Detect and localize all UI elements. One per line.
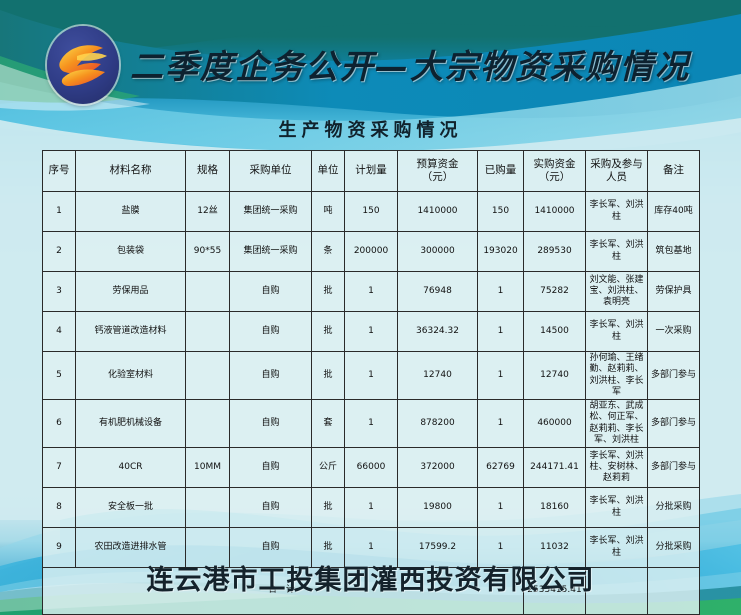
cell-remark: 劳保护具 xyxy=(648,272,700,312)
cell-no: 6 xyxy=(43,400,76,448)
cell-people: 李长军、刘洪柱 xyxy=(586,488,648,528)
cell-spec: 12丝 xyxy=(186,192,230,232)
cell-purchased: 1 xyxy=(478,400,524,448)
cell-remark: 筑包基地 xyxy=(648,232,700,272)
cell-no: 8 xyxy=(43,488,76,528)
cell-material: 40CR xyxy=(76,448,186,488)
cell-no: 3 xyxy=(43,272,76,312)
cell-planned: 1 xyxy=(345,312,398,352)
col-header-planned: 计划量 xyxy=(345,151,398,192)
cell-planned: 1 xyxy=(345,488,398,528)
cell-no: 2 xyxy=(43,232,76,272)
cell-unit-org: 自购 xyxy=(230,400,312,448)
cell-material: 安全板一批 xyxy=(76,488,186,528)
col-header-unit: 单位 xyxy=(312,151,345,192)
cell-spec xyxy=(186,488,230,528)
cell-planned: 150 xyxy=(345,192,398,232)
col-header-actual: 实购资金 （元） xyxy=(524,151,586,192)
cell-people: 刘文能、张建宝、刘洪柱、袁明亮 xyxy=(586,272,648,312)
cell-budget: 1410000 xyxy=(398,192,478,232)
cell-actual: 75282 xyxy=(524,272,586,312)
cell-planned: 200000 xyxy=(345,232,398,272)
table-row: 3劳保用品自购批176948175282刘文能、张建宝、刘洪柱、袁明亮劳保护具 xyxy=(43,272,700,312)
cell-actual: 460000 xyxy=(524,400,586,448)
cell-spec: 90*55 xyxy=(186,232,230,272)
col-header-purchased: 已购量 xyxy=(478,151,524,192)
poster-header: 二季度企务公开—大宗物资采购情况 xyxy=(0,0,741,112)
cell-unit: 批 xyxy=(312,272,345,312)
cell-material: 盐膜 xyxy=(76,192,186,232)
cell-material: 钙液管道改造材料 xyxy=(76,312,186,352)
col-header-material: 材料名称 xyxy=(76,151,186,192)
cell-unit: 批 xyxy=(312,352,345,400)
cell-purchased: 1 xyxy=(478,272,524,312)
col-header-actual-line2: （元） xyxy=(539,171,571,183)
cell-unit: 条 xyxy=(312,232,345,272)
table-row: 4钙液管道改造材料自购批136324.32114500李长军、刘洪柱一次采购 xyxy=(43,312,700,352)
cell-unit: 公斤 xyxy=(312,448,345,488)
cell-people: 李长军、刘洪柱 xyxy=(586,192,648,232)
table-header-row: 序号 材料名称 规格 采购单位 单位 计划量 预算资金 （元） 已购量 实购资金… xyxy=(43,151,700,192)
cell-planned: 1 xyxy=(345,272,398,312)
cell-budget: 36324.32 xyxy=(398,312,478,352)
procurement-table-wrap: 序号 材料名称 规格 采购单位 单位 计划量 预算资金 （元） 已购量 实购资金… xyxy=(42,150,699,615)
cell-unit: 吨 xyxy=(312,192,345,232)
col-header-spec: 规格 xyxy=(186,151,230,192)
cell-spec xyxy=(186,272,230,312)
cell-spec xyxy=(186,400,230,448)
cell-unit: 套 xyxy=(312,400,345,448)
cell-purchased: 1 xyxy=(478,488,524,528)
cell-no: 5 xyxy=(43,352,76,400)
cell-people: 李长军、刘洪柱 xyxy=(586,232,648,272)
cell-purchased: 1 xyxy=(478,312,524,352)
col-header-budget: 预算资金 （元） xyxy=(398,151,478,192)
cell-people: 胡亚东、武成松、何正军、赵莉莉、李长军、刘洪柱 xyxy=(586,400,648,448)
table-row: 740CR10MM自购公斤6600037200062769244171.41李长… xyxy=(43,448,700,488)
cell-people: 李长军、刘洪柱 xyxy=(586,312,648,352)
cell-unit-org: 自购 xyxy=(230,312,312,352)
logo-flame-icon xyxy=(47,26,119,104)
cell-no: 1 xyxy=(43,192,76,232)
cell-unit-org: 自购 xyxy=(230,352,312,400)
cell-budget: 300000 xyxy=(398,232,478,272)
cell-budget: 19800 xyxy=(398,488,478,528)
cell-planned: 1 xyxy=(345,352,398,400)
col-header-people: 采购及参与人员 xyxy=(586,151,648,192)
cell-remark: 多部门参与 xyxy=(648,400,700,448)
company-logo xyxy=(47,26,119,104)
cell-people: 孙何瑜、王绪勤、赵莉莉、刘洪柱、李长军 xyxy=(586,352,648,400)
cell-planned: 1 xyxy=(345,400,398,448)
cell-actual: 12740 xyxy=(524,352,586,400)
company-name-footer: 连云港市工投集团灌西投资有限公司 xyxy=(0,558,741,597)
cell-budget: 372000 xyxy=(398,448,478,488)
col-header-unit-org: 采购单位 xyxy=(230,151,312,192)
cell-actual: 14500 xyxy=(524,312,586,352)
cell-unit-org: 集团统一采购 xyxy=(230,232,312,272)
cell-no: 7 xyxy=(43,448,76,488)
table-row: 8安全板一批自购批119800118160李长军、刘洪柱分批采购 xyxy=(43,488,700,528)
cell-spec: 10MM xyxy=(186,448,230,488)
cell-planned: 66000 xyxy=(345,448,398,488)
cell-actual: 18160 xyxy=(524,488,586,528)
page-title: 二季度企务公开—大宗物资采购情况 xyxy=(130,40,710,92)
cell-spec xyxy=(186,352,230,400)
cell-material: 化验室材料 xyxy=(76,352,186,400)
procurement-table: 序号 材料名称 规格 采购单位 单位 计划量 预算资金 （元） 已购量 实购资金… xyxy=(42,150,700,615)
table-body: 1盐膜12丝集团统一采购吨15014100001501410000李长军、刘洪柱… xyxy=(43,192,700,568)
cell-material: 劳保用品 xyxy=(76,272,186,312)
cell-actual: 1410000 xyxy=(524,192,586,232)
table-row: 1盐膜12丝集团统一采购吨15014100001501410000李长军、刘洪柱… xyxy=(43,192,700,232)
table-row: 6有机肥机械设备自购套18782001460000胡亚东、武成松、何正军、赵莉莉… xyxy=(43,400,700,448)
col-header-remark: 备注 xyxy=(648,151,700,192)
cell-unit-org: 自购 xyxy=(230,488,312,528)
cell-purchased: 1 xyxy=(478,352,524,400)
cell-remark: 分批采购 xyxy=(648,488,700,528)
cell-purchased: 193020 xyxy=(478,232,524,272)
cell-remark: 多部门参与 xyxy=(648,448,700,488)
cell-remark: 库存40吨 xyxy=(648,192,700,232)
cell-unit: 批 xyxy=(312,488,345,528)
cell-budget: 12740 xyxy=(398,352,478,400)
cell-actual: 244171.41 xyxy=(524,448,586,488)
col-header-no: 序号 xyxy=(43,151,76,192)
cell-budget: 878200 xyxy=(398,400,478,448)
poster-background: 二季度企务公开—大宗物资采购情况 生产物资采购情况 序号 材料名称 规格 采购单… xyxy=(0,0,741,615)
table-row: 2包装袋90*55集团统一采购条200000300000193020289530… xyxy=(43,232,700,272)
col-header-budget-line1: 预算资金 xyxy=(417,158,459,170)
cell-material: 包装袋 xyxy=(76,232,186,272)
col-header-budget-line2: （元） xyxy=(422,171,454,183)
cell-unit-org: 集团统一采购 xyxy=(230,192,312,232)
cell-purchased: 150 xyxy=(478,192,524,232)
cell-spec xyxy=(186,312,230,352)
cell-budget: 76948 xyxy=(398,272,478,312)
cell-material: 有机肥机械设备 xyxy=(76,400,186,448)
cell-actual: 289530 xyxy=(524,232,586,272)
cell-no: 4 xyxy=(43,312,76,352)
cell-unit: 批 xyxy=(312,312,345,352)
section-subtitle: 生产物资采购情况 xyxy=(0,116,741,142)
table-row: 5化验室材料自购批112740112740孙何瑜、王绪勤、赵莉莉、刘洪柱、李长军… xyxy=(43,352,700,400)
cell-unit-org: 自购 xyxy=(230,448,312,488)
cell-remark: 多部门参与 xyxy=(648,352,700,400)
cell-unit-org: 自购 xyxy=(230,272,312,312)
col-header-actual-line1: 实购资金 xyxy=(534,158,576,170)
cell-people: 李长军、刘洪柱、安树林、赵莉莉 xyxy=(586,448,648,488)
cell-purchased: 62769 xyxy=(478,448,524,488)
cell-remark: 一次采购 xyxy=(648,312,700,352)
